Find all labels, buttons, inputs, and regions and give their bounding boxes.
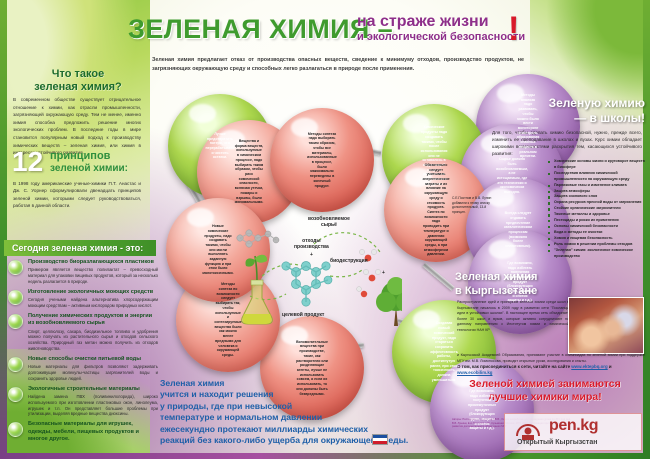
list-item: Последствия влияния химической промышлен…	[548, 171, 648, 183]
watermark-subtitle: Открытый Кыргызстан	[517, 439, 597, 446]
flag-icon	[372, 434, 388, 445]
intro-paragraph: Зеленая химия предлагает отказ от произв…	[152, 56, 524, 75]
kyrgyzstan-body: Распространение идей и принципов зеленой…	[457, 300, 569, 334]
principle-text: Всегда следует отдавать предпочтение кат…	[504, 211, 532, 249]
principle-text: Вещества и форма веществ, используемые в…	[235, 139, 264, 205]
leaf-bullet-icon	[8, 314, 23, 329]
watermark-title: pen.kg	[549, 417, 598, 435]
principles-title-line1: принципов	[50, 150, 110, 162]
list-item: Изготовление экологичных моющих средств …	[6, 289, 158, 309]
principle-text: Обязательно следует учитывать энергетиче…	[422, 163, 449, 257]
page-title: ЗЕЛЕНАЯ ХИМИЯ –	[128, 14, 393, 45]
benefit-text: Сегодня учеными найдена альтернатива хло…	[28, 297, 158, 309]
benefit-title: Экологичные строительные материалы	[28, 386, 158, 393]
today-banner-label: Сегодня зеленая химия - это:	[4, 243, 143, 253]
ecobilim-link[interactable]: www.ecobilim.kg	[457, 370, 492, 375]
school-topics-list: Химические основы жизни и круговорот вещ…	[548, 159, 648, 259]
kyrgyzstan-photo	[568, 297, 644, 354]
principles-body: В 1998 году американские ученые-химики П…	[13, 180, 141, 210]
green-chemistry-to-schools-body: Для того, чтобы сделать химию безопасной…	[492, 129, 642, 157]
kyrgyzstan-body-continued: и Кыргызской Академией Образования, прин…	[457, 353, 645, 364]
page-subtitle-line2: и экологической безопасности	[357, 31, 525, 43]
tree-icon	[376, 277, 402, 326]
benefits-list: Производство биоразлагающихся пластиков …	[6, 259, 158, 447]
benefit-title: Получение химических продуктов и энергии…	[28, 313, 158, 328]
list-item: Получение химических продуктов и энергии…	[6, 313, 158, 352]
principle-bubble[interactable]: Методы синтеза надо выбирать таким образ…	[270, 108, 374, 212]
benefit-title: Производство биоразлагающихся пластиков	[28, 259, 158, 266]
principle-text: Где возможно, надо избегать получения пр…	[506, 261, 534, 303]
label-production-waste: отходы производства	[294, 238, 329, 250]
label-plus-sign-2: +	[382, 270, 385, 276]
principle-13-note: С.Е.Постнов и В.В. Лунин добавили к этом…	[452, 196, 500, 214]
label-target-product: целевой продукт	[282, 312, 324, 318]
principles-count: 12	[12, 148, 43, 176]
principle-text: Где возможно, надо избегать получения пр…	[468, 389, 496, 431]
list-item: Безопасные материалы для игрушек, одежды…	[6, 421, 158, 443]
list-item: Экологичные строительные материалы Найде…	[6, 386, 158, 418]
ektepbq-link[interactable]: www.ektepbq.org	[571, 364, 607, 369]
leaf-bullet-icon	[8, 357, 23, 372]
leaf-bullet-icon	[8, 387, 23, 402]
list-item: Производство биоразлагающихся пластиков …	[6, 259, 158, 285]
leaf-bullet-icon	[8, 422, 23, 437]
center-artwork: возобновляемое сырьё отходы производства…	[222, 214, 402, 334]
principles-title-line2: зеленой химии:	[50, 163, 128, 174]
label-biodestruction: биодеструкция	[330, 258, 368, 264]
watermark: pen.kg Открытый Кыргызстан	[504, 413, 642, 451]
benefit-text: Примером является вещество полилактат – …	[28, 267, 158, 284]
principle-text: Методы синтеза по возможности следует вы…	[214, 282, 241, 357]
today-green-chemistry-banner: Сегодня зеленая химия - это:	[4, 240, 156, 256]
label-plus-sign: +	[310, 252, 313, 258]
leaf-bullet-icon	[8, 290, 23, 305]
list-item: Новые способы очистки питьевой воды Новы…	[6, 356, 158, 382]
benefit-title: Безопасные материалы для игрушек, одежды…	[28, 421, 158, 443]
leaf-bullet-icon	[8, 260, 23, 275]
principle-text: Создавая новый химический продукт, надо …	[430, 321, 458, 382]
poster-root: ЗЕЛЕНАЯ ХИМИЯ – на страже жизни и эколог…	[0, 0, 650, 459]
green-chemistry-to-schools-title: Зеленую химию — в школы!	[470, 96, 645, 126]
page-subtitle-line1: на страже жизни	[357, 13, 489, 31]
benefit-text: Спирт, целлюлозу, сахара, биодизельное т…	[28, 329, 158, 352]
list-item: "Зеленая" химия: экологичное химическое …	[548, 248, 648, 260]
principle-text: Методы синтеза надо выбирать таким образ…	[307, 132, 337, 188]
what-is-green-chemistry-title: Что такое зеленая химия?	[16, 68, 140, 94]
benefit-title: Изготовление экологичных моющих средств	[28, 289, 158, 296]
principle-text: Сырье должно быть возобновляемым, а не и…	[496, 157, 528, 195]
principle-text: Новые химические продукты, надо создават…	[202, 224, 233, 276]
list-item: Химические основы жизни и круговорот вещ…	[548, 159, 648, 171]
watermark-box: pen.kg Открытый Кыргызстан	[504, 413, 642, 451]
kyrgyzstan-section-title: Зеленая химия в Кыргызстане	[455, 270, 620, 298]
exclamation-mark: !	[508, 10, 519, 49]
kyrgyzstan-website-line: О том, как присоединиться к сети, читайт…	[457, 364, 647, 376]
principle-text: Вспомогательные вещества при производств…	[296, 340, 328, 396]
diagram-connector	[422, 263, 454, 291]
link-separator: и	[608, 364, 612, 369]
principle-text: Методы анализа надо развивать, чтобы мож…	[517, 93, 540, 159]
border-bottom	[0, 453, 650, 459]
principle-text: Лучше предотвратить потери, чем перераба…	[206, 132, 235, 160]
benefit-text: Найдена замена ПВХ (поливинилхлорида), ш…	[28, 394, 158, 417]
label-renewable-material: возобновляемое сырьё	[308, 216, 350, 228]
link-prefix-text: О том, как присоединиться к сети, читайт…	[457, 364, 571, 369]
benefit-text: Новые материалы для фильтров позволяют з…	[28, 364, 158, 381]
benefit-title: Новые способы очистки питьевой воды	[28, 356, 158, 363]
open-kg-logo-icon	[513, 418, 543, 440]
